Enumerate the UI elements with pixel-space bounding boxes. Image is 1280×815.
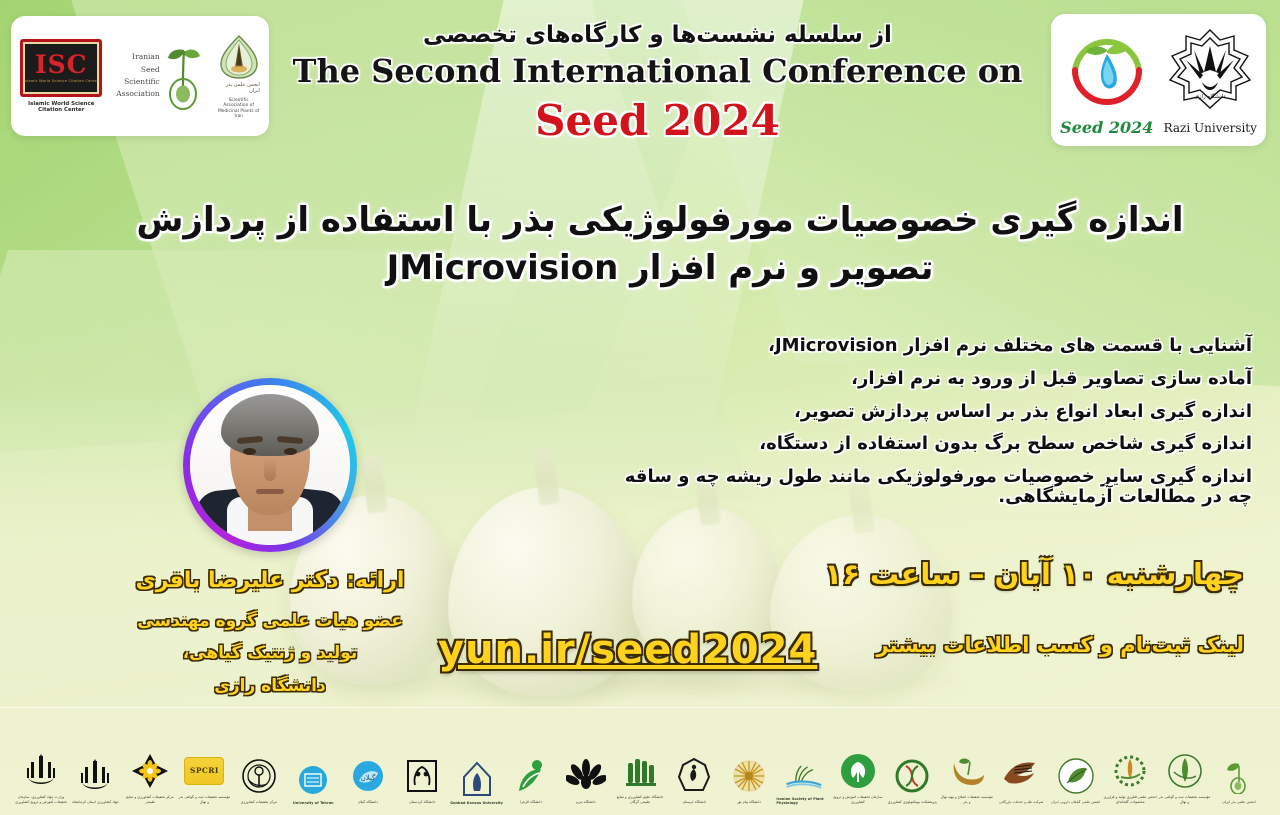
isc-caption: Islamic World Science Citation Center <box>20 101 102 113</box>
sponsor-caption: دانشگاه پیام نور <box>737 800 761 805</box>
word-association: Association <box>116 88 159 100</box>
sponsor-logo: انجمن علمی فناوری تولید و فرآوری محصولات… <box>1103 713 1157 805</box>
sponsor-caption: مؤسسه تحقیقات ثبت و گواهی بذر و نهال <box>177 795 231 805</box>
word-seed: Seed <box>116 64 159 76</box>
crescent-seed-icon <box>947 750 987 792</box>
isc-logo: ISC Islamic World Science Citation Cente… <box>20 39 102 113</box>
sponsor-logo-card-left: انجمن علمی بذر ایران Scientific Associat… <box>11 16 269 136</box>
conference-name: Seed 2024 <box>275 96 1040 145</box>
sponsor-logo: مرکز تحقیقات کشاورزی <box>232 713 286 805</box>
isc-badge: ISC Islamic World Science Citation Cente… <box>20 39 102 97</box>
bulb-neck <box>532 446 560 506</box>
sprout-seed-icon <box>164 42 204 110</box>
wheat-circle-icon <box>1165 750 1205 792</box>
sponsor-caption: دانشگاه علوم کشاورزی و منابع طبیعی گرگان <box>613 795 667 805</box>
poster-kicker: از سلسله نشست‌ها و کارگاه‌های تخصصی <box>275 22 1040 48</box>
speaker-block: ارائه: دکتر علیرضا باقری عضو هیات علمی گ… <box>120 378 420 702</box>
sponsor-logo: گیلان دانشگاه گیلان <box>341 713 395 805</box>
sponsor-logo-card-right: دانشگاه رازی Razi University Seed 2024 <box>1051 14 1266 146</box>
poster-header: از سلسله نشست‌ها و کارگاه‌های تخصصی The … <box>275 22 1040 145</box>
sponsor-caption: دانشگاه کردستان <box>409 800 435 805</box>
sponsor-logo: انجمن علمی بذر ایران <box>1212 713 1266 805</box>
sponsor-caption: پژوهشکده بیوتکنولوژی کشاورزی <box>888 800 937 805</box>
sponsor-logo: دانشگاه پیام نور <box>722 713 776 805</box>
sponsor-logo: انجمن علمی گیاهان دارویی ایران <box>1049 713 1103 805</box>
sponsor-caption-en: Gonbad Kavous University <box>450 801 503 805</box>
sponsor-caption: شرکت غله و خدمات بازرگانی <box>999 800 1043 805</box>
wheat-gear-icon <box>1110 750 1150 792</box>
sponsor-caption: انجمن علمی گیاهان دارویی ایران <box>1051 800 1100 805</box>
iranian-seed-scientific-association-logo: Iranian Seed Scientific Association <box>116 42 203 110</box>
portrait-nose <box>264 459 276 481</box>
medicinal-plants-association-logo: انجمن علمی بذر ایران Scientific Associat… <box>218 34 260 118</box>
list-item: اندازه گیری شاخص سطح برگ بدون استفاده از… <box>612 434 1252 454</box>
sponsor-caption: مؤسسه تحقیقات اصلاح و تهیه نهال و بذر <box>940 795 994 805</box>
sunburst-icon <box>729 755 769 797</box>
registration-link-label: لینک ثبت‌نام و کسب اطلاعات بیشتر <box>876 633 1244 657</box>
sponsor-logo: دانشگاه کردستان <box>395 713 449 805</box>
list-item: آماده سازی تصاویر قبل از ورود به نرم افز… <box>612 369 1252 389</box>
gilan-icon: گیلان <box>348 755 388 797</box>
sponsor-logo: دانشگاه تبریز <box>559 713 613 805</box>
sponsor-caption: دانشگاه گیلان <box>358 800 379 805</box>
word-scientific: Scientific <box>116 76 159 88</box>
circle-wheat-icon <box>239 755 279 797</box>
sponsor-caption: جهاد کشاورزی استان کرمانشاه <box>72 800 119 805</box>
arch-icon <box>457 759 497 801</box>
wheat-block-icon <box>620 750 660 792</box>
sponsor-caption: انجمن علمی بذر ایران <box>1222 800 1255 805</box>
sponsor-caption-en: Iranian Society of Plant Physiology <box>776 797 830 805</box>
sponsor-logo: دانشگاه علوم کشاورزی و منابع طبیعی گرگان <box>613 713 667 805</box>
association-fa-caption: انجمن علمی بذر ایران <box>218 82 260 94</box>
sponsor-logo: مؤسسه تحقیقات ثبت و گواهی بذر و نهال <box>1158 713 1212 805</box>
sponsor-logo: دانشگاه الزهرا <box>504 713 558 805</box>
seed-drop-emblem-icon <box>1061 24 1153 116</box>
dna-circle-icon <box>892 755 932 797</box>
tehran-icon <box>293 759 333 801</box>
topics-list: آشنایی با قسمت های مختلف نرم افزار JMicr… <box>612 336 1252 520</box>
speaker-affiliation-line2: دانشگاه رازی <box>120 670 420 702</box>
flower-black-icon <box>566 755 606 797</box>
isc-badge-subtext: Islamic World Science Citation Center <box>24 79 99 83</box>
sponsor-caption: دانشگاه لرستان <box>683 800 707 805</box>
sponsor-caption: وزارت جهاد کشاورزی، سازمان تحقیقات آموزش… <box>14 795 68 805</box>
razi-university-label: Razi University <box>1164 121 1257 135</box>
sponsor-logo: پژوهشکده بیوتکنولوژی کشاورزی <box>885 713 939 805</box>
workshop-title: اندازه گیری خصوصیات مورفولوژیکی بذر با ا… <box>120 196 1200 293</box>
sponsor-logo: وزارت جهاد کشاورزی، سازمان تحقیقات آموزش… <box>14 713 68 805</box>
avatar <box>190 385 350 545</box>
sponsor-logo: مرکز تحقیقات کشاورزی و منابع طبیعی <box>123 713 177 805</box>
avatar-ring <box>183 378 357 552</box>
sponsor-caption-en: University of Tehran <box>293 801 334 805</box>
list-item: اندازه گیری سایر خصوصیات مورفولوژیکی مان… <box>612 467 1252 507</box>
portrait-eye-right <box>284 448 297 455</box>
registration-url[interactable]: yun.ir/seed2024 <box>438 627 817 673</box>
sponsor-logo: Iranian Society of Plant Physiology <box>776 713 830 805</box>
sponsor-caption: مؤسسه تحقیقات ثبت و گواهی بذر و نهال <box>1158 795 1212 805</box>
spcri-label: SPCRI <box>184 757 224 785</box>
alzahra-icon <box>511 755 551 797</box>
razi-university-logo: دانشگاه رازی Razi University <box>1163 26 1259 135</box>
list-item: اندازه گیری ابعاد انواع بذر بر اساس پردا… <box>612 402 1252 422</box>
sponsor-logo: مؤسسه تحقیقات اصلاح و تهیه نهال و بذر <box>940 713 994 805</box>
spcri-badge-icon: SPCRI <box>184 750 224 792</box>
association-words: Iranian Seed Scientific Association <box>116 51 159 101</box>
sponsor-logo: دانشگاه لرستان <box>667 713 721 805</box>
kurdistan-icon <box>402 755 442 797</box>
association-en-caption: Scientific Association of Medicinal Plan… <box>218 97 260 118</box>
grass-water-icon <box>783 755 823 797</box>
conference-poster: انجمن علمی بذر ایران Scientific Associat… <box>0 0 1280 815</box>
seed2024-logo: Seed 2024 <box>1059 24 1155 137</box>
svg-text:گیلان: گیلان <box>360 773 375 782</box>
sponsor-logo: شرکت غله و خدمات بازرگانی <box>994 713 1048 805</box>
speaker-affiliation-line1: عضو هیات علمی گروه مهندسی تولید و ژنتیک … <box>120 605 420 670</box>
sponsor-caption: مرکز تحقیقات کشاورزی <box>241 800 277 805</box>
sponsor-caption: سازمان تحقیقات آموزش و ترویج کشاورزی <box>831 795 885 805</box>
seed2024-label: Seed 2024 <box>1060 118 1153 137</box>
sponsor-caption: انجمن علمی فناوری تولید و فرآوری محصولات… <box>1103 795 1157 805</box>
yellow-star-icon <box>130 750 170 792</box>
seedling-icon <box>1219 755 1259 797</box>
green-plant-icon <box>838 750 878 792</box>
svg-text:دانشگاه رازی: دانشگاه رازی <box>1195 93 1226 100</box>
isc-badge-text: ISC <box>35 53 88 77</box>
list-item: آشنایی با قسمت های مختلف نرم افزار JMicr… <box>612 336 1252 356</box>
conference-line: The Second International Conference on <box>275 52 1040 90</box>
sponsor-caption: دانشگاه الزهرا <box>520 800 542 805</box>
sponsor-logo: University of Tehran <box>286 713 340 805</box>
sponsor-caption: دانشگاه تبریز <box>576 800 596 805</box>
speaker-name: ارائه: دکتر علیرضا باقری <box>120 568 420 593</box>
event-date-time: چهارشنبه ۱۰ آبان – ساعت ۱۶ <box>824 557 1244 591</box>
leaf-circle-icon <box>1056 755 1096 797</box>
razi-emblem-icon: دانشگاه رازی <box>1164 26 1256 118</box>
portrait-mouth <box>256 489 284 494</box>
eagle-icon <box>1001 755 1041 797</box>
sponsor-logo: SPCRI مؤسسه تحقیقات ثبت و گواهی بذر و نه… <box>177 713 231 805</box>
allah-emblem-icon <box>21 750 61 792</box>
sponsor-logo: سازمان تحقیقات آموزش و ترویج کشاورزی <box>831 713 885 805</box>
sponsor-caption: مرکز تحقیقات کشاورزی و منابع طبیعی <box>123 795 177 805</box>
sponsor-logo: جهاد کشاورزی استان کرمانشاه <box>68 713 122 805</box>
allah-emblem-icon <box>75 755 115 797</box>
sponsor-strip: انجمن علمی بذر ایران مؤسسه تحقیقات ثبت و… <box>0 707 1280 815</box>
speaker-affiliation: عضو هیات علمی گروه مهندسی تولید و ژنتیک … <box>120 605 420 702</box>
sponsor-logo: Gonbad Kavous University <box>450 713 504 805</box>
seed-drop-icon <box>218 34 260 80</box>
star-frame-icon <box>674 755 714 797</box>
speaker-portrait <box>190 385 350 545</box>
portrait-eye-left <box>243 448 256 455</box>
word-iranian: Iranian <box>116 51 159 63</box>
